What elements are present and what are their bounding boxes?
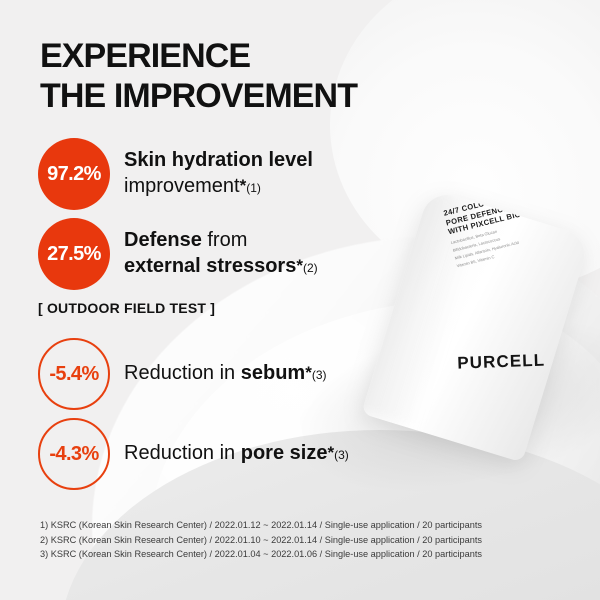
page-title: EXPERIENCE THE IMPROVEMENT [40,36,357,116]
stat-note-defense: (2) [303,261,318,275]
infographic-canvas: 24/7 COLOSTRUM PORE DEFENCE AMPOULE WITH… [0,0,600,600]
stat-row-defense: 27.5% Defense from external stressors*(2… [38,218,318,290]
stat-star-sebum: * [305,363,312,382]
stat-label-hydration-bold: Skin hydration level [124,149,313,171]
stat-badge-pore-size: -4.3% [38,418,110,490]
stat-value-hydration: 97.2% [47,163,101,186]
stat-row-sebum: -5.4% Reduction in sebum*(3) [38,338,327,410]
stat-label-defense: Defense from external stressors*(2) [124,228,318,281]
stat-label-defense-bold-2: external stressors [124,255,296,277]
stat-star-defense: * [296,256,303,275]
stat-label-sebum: Reduction in sebum*(3) [124,360,327,388]
footnote-1: 1) KSRC (Korean Skin Research Center) / … [40,518,482,533]
stat-value-defense: 27.5% [47,243,101,266]
stat-badge-sebum: -5.4% [38,338,110,410]
stat-badge-defense: 27.5% [38,218,110,290]
stat-label-sebum-bold: sebum [241,362,305,384]
stat-badge-hydration: 97.2% [38,138,110,210]
section-header-outdoor-field-test: [ OUTDOOR FIELD TEST ] [38,300,215,316]
stat-label-hydration: Skin hydration level improvement*(1) [124,148,313,201]
stat-label-hydration-regular: improvement [124,175,240,197]
footnote-2: 2) KSRC (Korean Skin Research Center) / … [40,533,482,548]
stat-label-pore-size-regular: Reduction in [124,442,241,464]
footnote-3: 3) KSRC (Korean Skin Research Center) / … [40,547,482,562]
stat-note-sebum: (3) [312,368,327,382]
stat-note-pore-size: (3) [334,448,349,462]
stat-label-pore-size-bold: pore size [241,442,328,464]
content-layer: EXPERIENCE THE IMPROVEMENT 97.2% Skin hy… [0,0,600,600]
stat-label-pore-size: Reduction in pore size*(3) [124,440,349,468]
stat-note-hydration: (1) [246,181,261,195]
stat-row-pore-size: -4.3% Reduction in pore size*(3) [38,418,349,490]
stat-row-hydration: 97.2% Skin hydration level improvement*(… [38,138,313,210]
stat-label-sebum-regular: Reduction in [124,362,241,384]
stat-value-sebum: -5.4% [49,363,98,386]
footnotes: 1) KSRC (Korean Skin Research Center) / … [40,518,482,562]
stat-label-defense-regular: from [202,229,248,251]
stat-value-pore-size: -4.3% [49,443,98,466]
stat-label-defense-bold: Defense [124,229,202,251]
